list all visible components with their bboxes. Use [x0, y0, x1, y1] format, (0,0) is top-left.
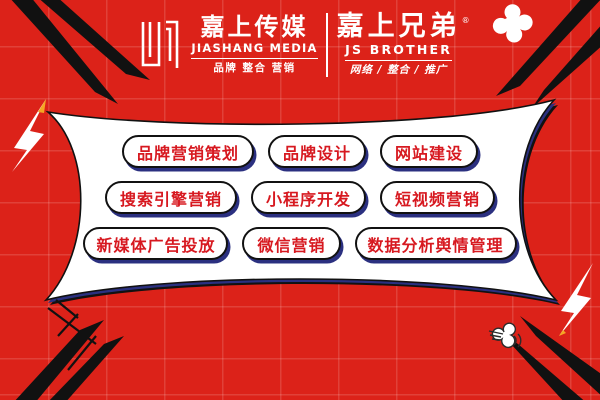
service-button-new-media-advertising[interactable]: 新媒体广告投放 [83, 227, 228, 260]
cloud-puff-motion-icon [487, 322, 527, 356]
jiashang-monogram-icon [139, 19, 181, 71]
service-button-website-construction[interactable]: 网站建设 [380, 135, 478, 168]
service-button-brand-marketing-planning[interactable]: 品牌营销策划 [122, 135, 254, 168]
brand-right: 嘉上兄弟 ® JS BROTHER 网络 / 整合 / 推广 [326, 13, 461, 78]
brand-left-cn: 嘉上传媒 [200, 15, 308, 40]
service-button-short-video-marketing[interactable]: 短视频营销 [380, 181, 495, 214]
lightning-bolt-icon-right [559, 263, 593, 336]
service-button-data-analysis-sentiment[interactable]: 数据分析舆情管理 [355, 227, 517, 260]
service-row-3: 新媒体广告投放 微信营销 数据分析舆情管理 [83, 227, 516, 260]
brand-right-en: JS BROTHER [345, 42, 452, 61]
service-button-search-engine-marketing[interactable]: 搜索引擎营销 [105, 181, 237, 214]
service-row-1: 品牌营销策划 品牌设计 网站建设 [122, 135, 478, 168]
brand-left: 嘉上传媒 JIASHANG MEDIA 品牌 整合 营销 [191, 13, 325, 78]
brand-left-en: JIASHANG MEDIA [191, 41, 317, 59]
registered-trademark-icon: ® [462, 16, 470, 25]
service-list: 品牌营销策划 品牌设计 网站建设 搜索引擎营销 小程序开发 短视频营销 新媒体广… [0, 135, 600, 260]
brand-right-cn: 嘉上兄弟 [337, 13, 461, 41]
brand-right-tagline: 网络 / 整合 / 推广 [350, 64, 447, 78]
service-button-brand-design[interactable]: 品牌设计 [268, 135, 366, 168]
speed-slash-icon-bottom-left [12, 320, 124, 400]
promo-poster: 嘉上传媒 JIASHANG MEDIA 品牌 整合 营销 嘉上兄弟 ® JS B… [0, 0, 600, 400]
service-button-wechat-marketing[interactable]: 微信营销 [242, 227, 340, 260]
service-row-2: 搜索引擎营销 小程序开发 短视频营销 [105, 181, 495, 214]
brand-left-tagline: 品牌 整合 营销 [213, 62, 295, 76]
service-button-mini-program-development[interactable]: 小程序开发 [251, 181, 366, 214]
brand-header: 嘉上传媒 JIASHANG MEDIA 品牌 整合 营销 嘉上兄弟 ® JS B… [0, 0, 600, 90]
